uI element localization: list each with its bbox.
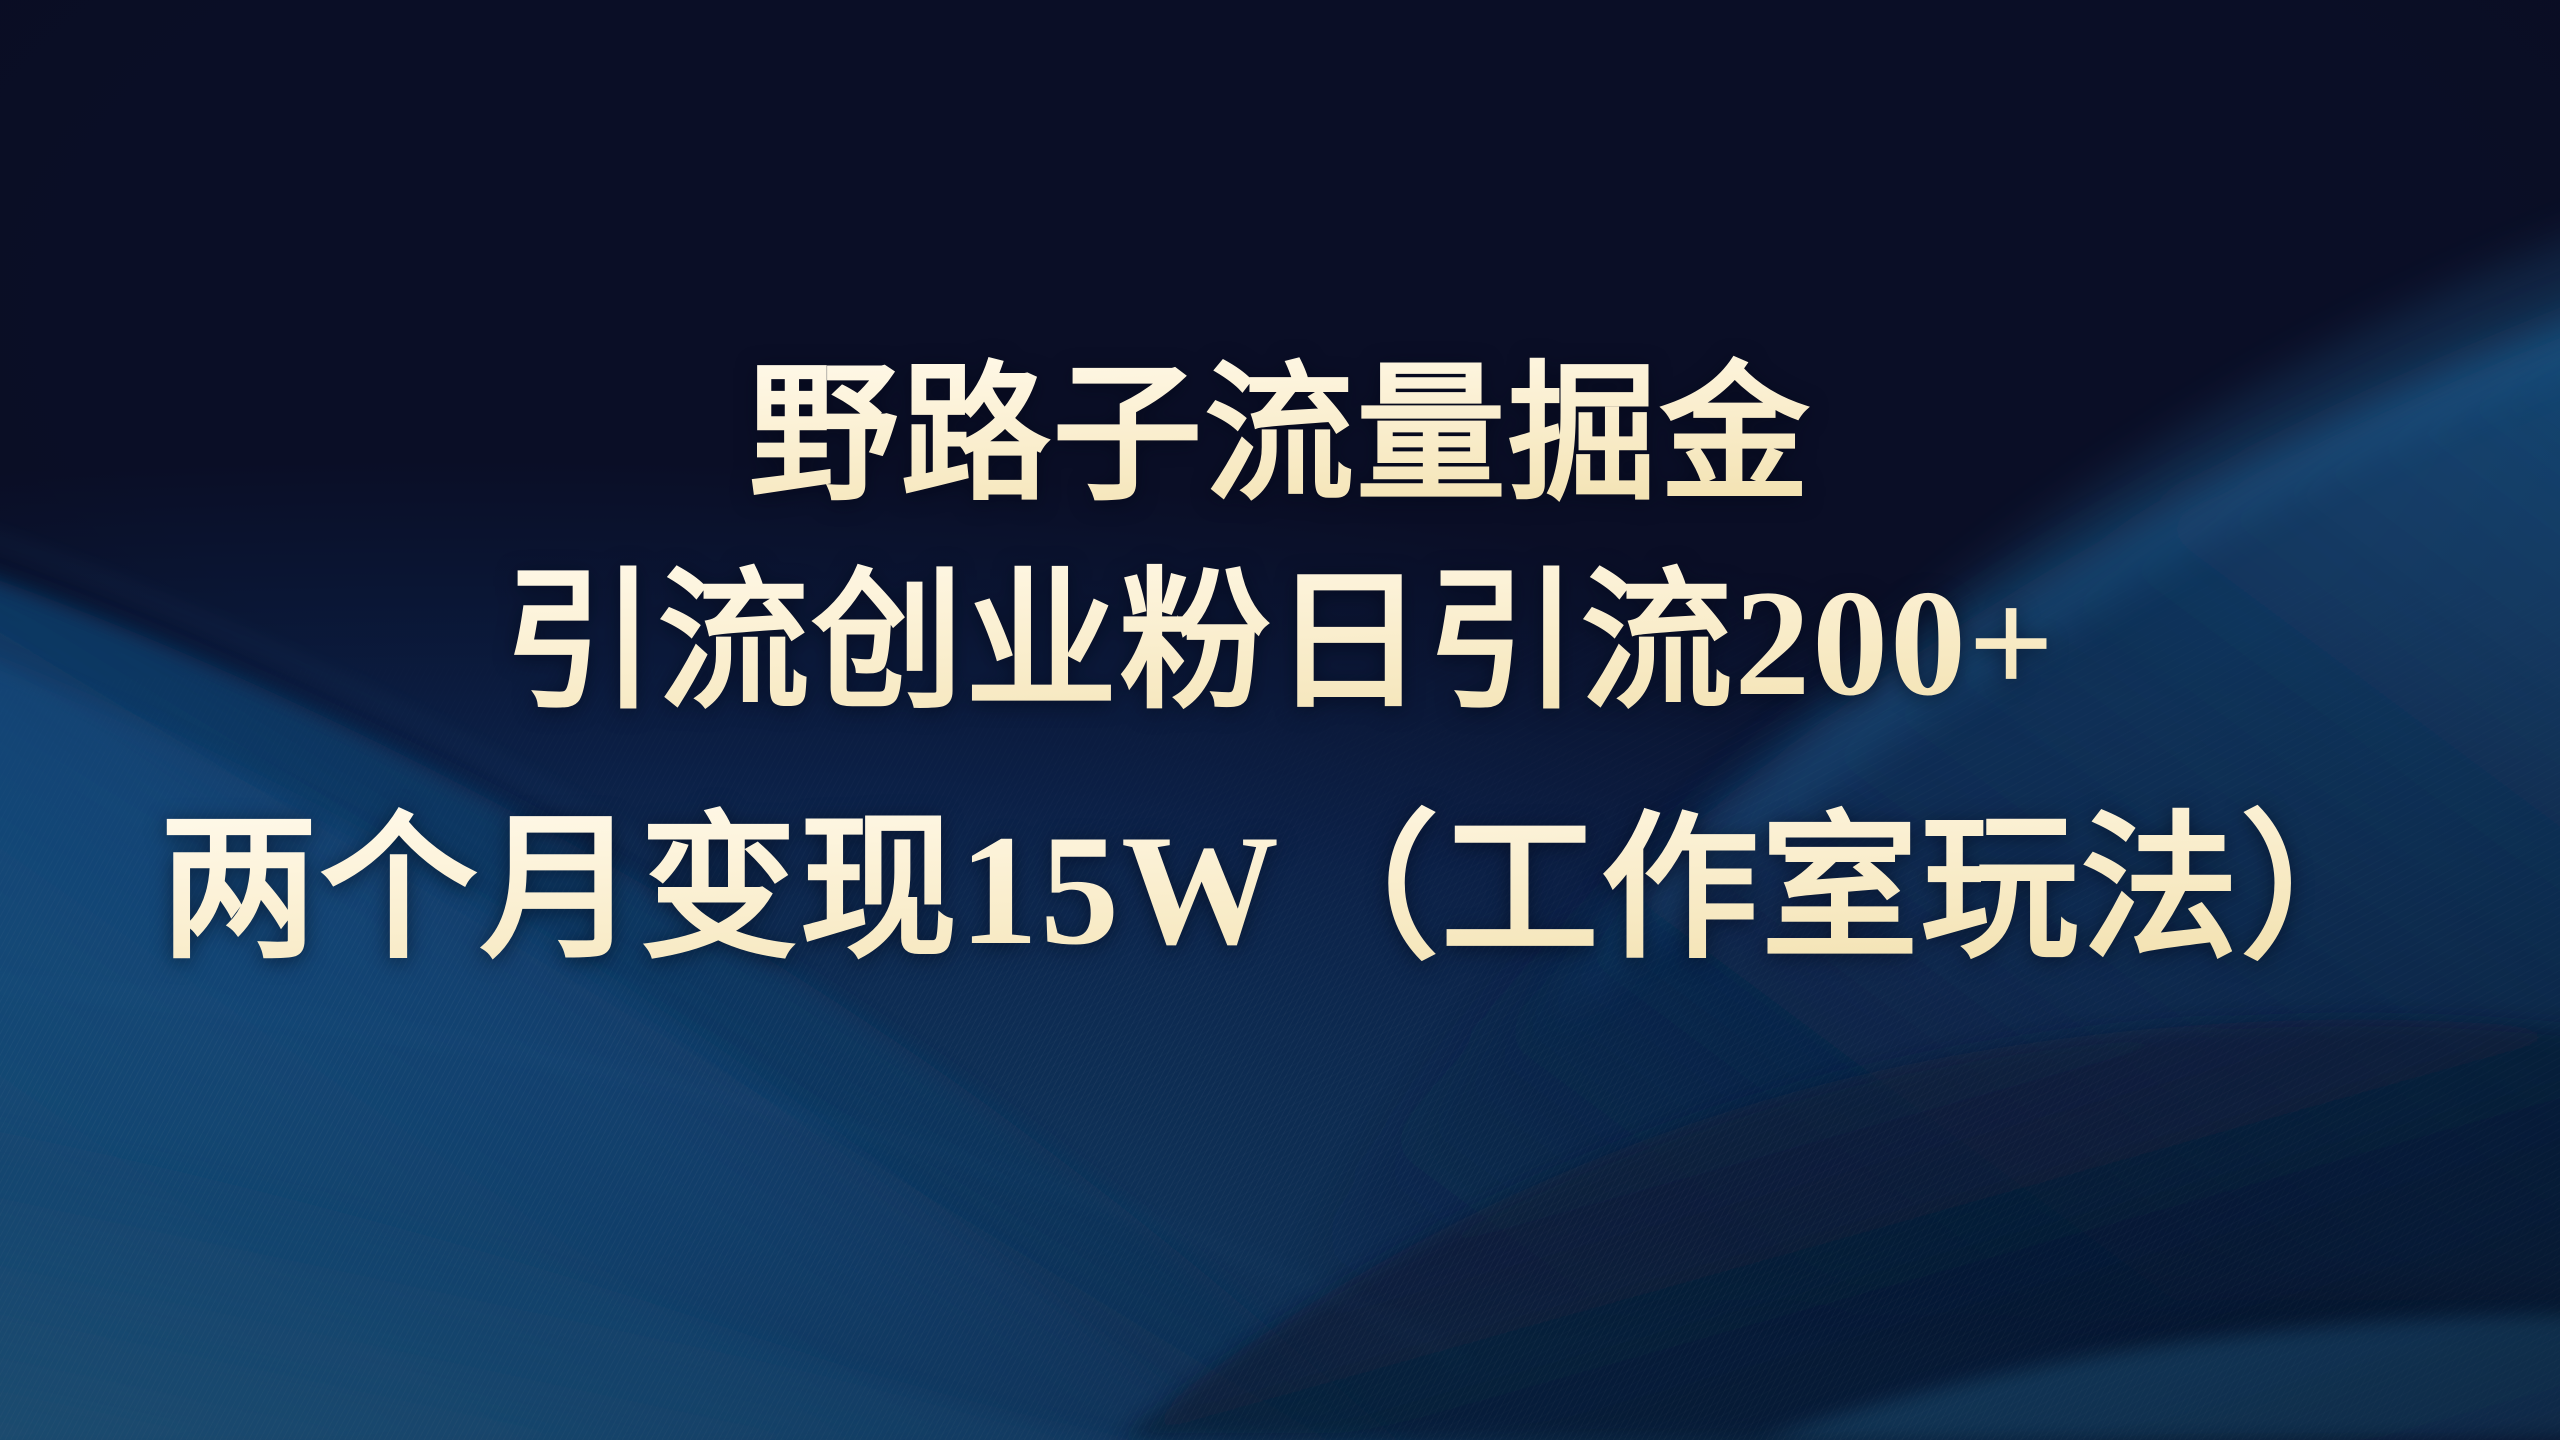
headline-block: 野路子流量掘金 引流创业粉日引流200+ 两个月变现15W（工作室玩法） — [0, 352, 2560, 1016]
headline-line-1: 野路子流量掘金 — [0, 352, 2560, 520]
headline-line-2: 引流创业粉日引流200+ — [0, 520, 2560, 766]
poster-canvas: 野路子流量掘金 引流创业粉日引流200+ 两个月变现15W（工作室玩法） — [0, 0, 2560, 1440]
headline-line-3: 两个月变现15W（工作室玩法） — [0, 766, 2560, 1016]
